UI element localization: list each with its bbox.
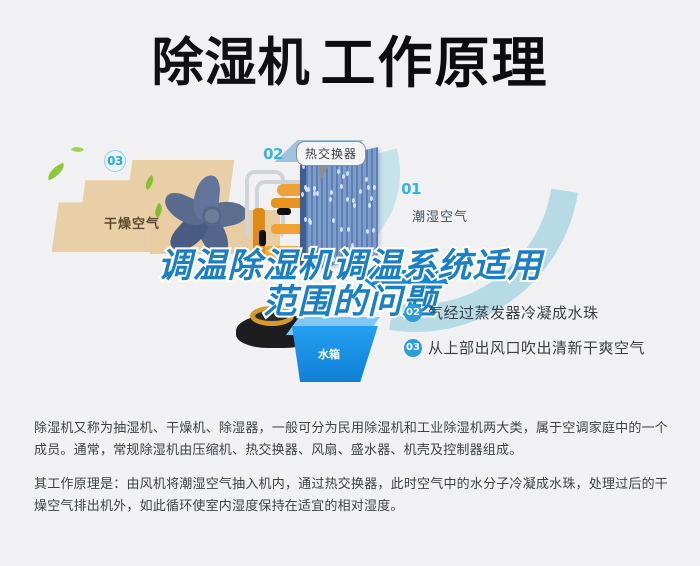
step-item: 02 气经过蒸发器冷凝成水珠 (404, 302, 694, 323)
fan-hub (202, 206, 222, 226)
motor-ring-icon (250, 306, 294, 326)
water-drop-icon (373, 185, 376, 190)
heat-exchanger-callout: 热交换器 (296, 141, 366, 166)
step-badge: 02 (404, 304, 422, 322)
step-text: 从上部出风口吹出清新干爽空气 (428, 337, 645, 358)
water-drop-icon (353, 203, 356, 208)
step-item: 03 从上部出风口吹出清新干爽空气 (404, 337, 694, 358)
leaf-icon (45, 163, 68, 181)
page-title: 除湿机工作原理 (0, 18, 700, 98)
water-drop-icon (370, 196, 373, 201)
water-drop-icon (346, 171, 349, 176)
water-drop-icon (366, 229, 369, 234)
diagram-badge-03: 03 (104, 150, 126, 172)
step-list: 02 气经过蒸发器冷凝成水珠 03 从上部出风口吹出清新干爽空气 (404, 302, 694, 372)
humid-air-label: 潮湿空气 (412, 206, 468, 225)
water-drop-icon (346, 247, 349, 252)
condensation-drops-icon (300, 156, 378, 264)
water-drop-icon (308, 247, 311, 252)
infographic-page: 除湿机工作原理 干燥空气 (0, 0, 700, 566)
water-drop-icon (304, 217, 307, 222)
water-tank-label: 水箱 (318, 346, 340, 362)
body-paragraph-1: 除湿机又称为抽湿机、干燥机、除湿器，一般可分为民用除湿机和工业除湿机两大类，属于… (34, 418, 668, 462)
article-body: 除湿机又称为抽湿机、干燥机、除湿器，一般可分为民用除湿机和工业除湿机两大类，属于… (34, 418, 668, 518)
water-drop-icon (372, 228, 375, 233)
step-badge: 03 (404, 339, 422, 357)
water-drop-icon (351, 243, 354, 248)
page-title-part1: 除湿机 (151, 34, 310, 94)
flow-arrow-icon (277, 208, 291, 215)
water-drop-icon (340, 227, 343, 232)
dry-air-label: 干燥空气 (104, 213, 160, 232)
water-drop-icon (309, 220, 312, 225)
water-drop-icon (342, 174, 345, 179)
water-drop-icon (368, 203, 371, 208)
water-drop-icon (332, 218, 335, 223)
water-drop-icon (337, 169, 340, 174)
water-drop-icon (332, 257, 335, 262)
water-drop-icon (346, 197, 349, 202)
water-drop-icon (358, 248, 361, 253)
diagram-badge-01: 01 (400, 178, 422, 200)
water-drop-icon (316, 191, 319, 196)
diagram-badge-02: 02 (262, 143, 284, 165)
water-drop-icon (330, 190, 333, 195)
leaf-icon (71, 144, 84, 156)
body-paragraph-2: 其工作原理是：由风机将潮湿空气抽入机内，通过热交换器，此时空气中的水分子冷凝成水… (34, 474, 668, 518)
water-drop-icon (367, 185, 370, 190)
humid-air-inlet-arrow-icon (378, 270, 448, 284)
water-drop-icon (359, 189, 362, 194)
water-drop-icon (365, 177, 368, 182)
water-drop-icon (370, 251, 373, 256)
page-title-part2: 工作原理 (321, 31, 549, 95)
water-drop-icon (313, 186, 316, 191)
step-text: 气经过蒸发器冷凝成水珠 (428, 302, 599, 323)
water-drop-icon (366, 249, 369, 254)
flow-arrow-icon (259, 230, 266, 246)
water-drop-icon (301, 192, 304, 197)
water-drop-icon (305, 187, 308, 192)
copper-tube (265, 246, 301, 260)
water-drop-icon (347, 227, 350, 232)
water-drop-icon (329, 197, 332, 202)
water-drop-icon (340, 184, 343, 189)
